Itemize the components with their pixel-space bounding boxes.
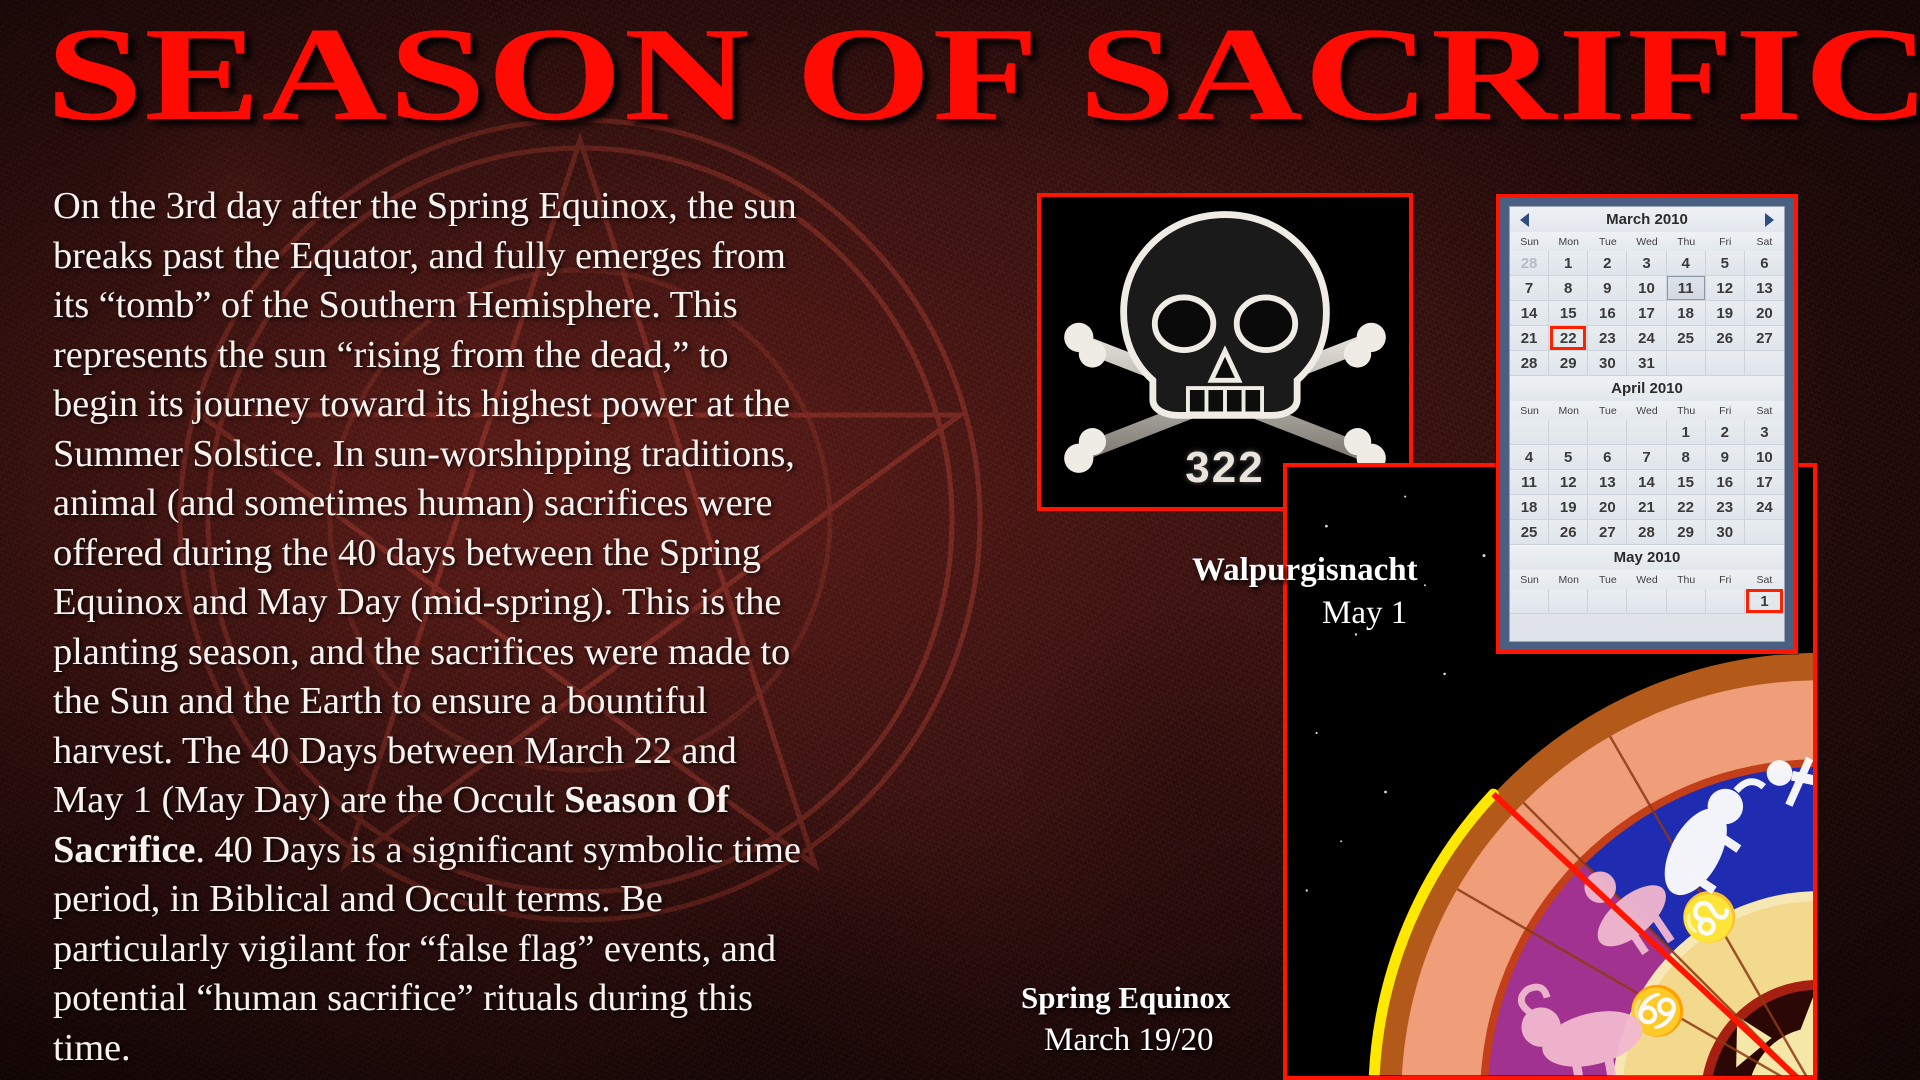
calendar-day-cell[interactable]: 3 xyxy=(1745,420,1784,445)
calendar-day-cell[interactable]: 8 xyxy=(1549,276,1588,301)
calendar-day-cell[interactable]: 23 xyxy=(1706,495,1745,520)
calendar-dayofweek-label: Fri xyxy=(1706,570,1745,589)
calendar-dayofweek-label: Fri xyxy=(1706,232,1745,251)
calendar-day-cell[interactable]: 18 xyxy=(1667,301,1706,326)
calendar-dayofweek-label: Mon xyxy=(1549,401,1588,420)
body-paragraph: On the 3rd day after the Spring Equinox,… xyxy=(53,182,813,1073)
calendar-dayofweek-row: SunMonTueWedThuFriSat xyxy=(1510,232,1784,251)
calendar-day-cell[interactable]: 24 xyxy=(1745,495,1784,520)
calendar-day-cell[interactable]: 11 xyxy=(1667,276,1706,301)
calendar-dayofweek-label: Wed xyxy=(1627,570,1666,589)
calendar-day-cell[interactable]: 16 xyxy=(1706,470,1745,495)
caption-walpurgisnacht-date: May 1 xyxy=(1322,595,1407,632)
calendar-day-cell[interactable]: 2 xyxy=(1706,420,1745,445)
calendar-day-cell[interactable]: 1 xyxy=(1549,251,1588,276)
calendar-day-cell[interactable]: 28 xyxy=(1510,251,1549,276)
calendar-dayofweek-label: Tue xyxy=(1588,570,1627,589)
calendar-day-cell[interactable]: 29 xyxy=(1549,351,1588,376)
calendar-day-cell xyxy=(1588,420,1627,445)
calendar-day-cell[interactable]: 20 xyxy=(1588,495,1627,520)
calendar-dayofweek-row: SunMonTueWedThuFriSat xyxy=(1510,570,1784,589)
calendar-day-cell xyxy=(1667,351,1706,376)
calendar-day-cell[interactable]: 8 xyxy=(1667,445,1706,470)
body-text-part1: On the 3rd day after the Spring Equinox,… xyxy=(53,185,797,821)
calendar-day-cell[interactable]: 30 xyxy=(1706,520,1745,545)
calendar-day-cell[interactable]: 9 xyxy=(1706,445,1745,470)
calendar-day-grid: 2812345678910111213141516171819202122232… xyxy=(1510,251,1784,376)
calendar-body: March 2010SunMonTueWedThuFriSat281234567… xyxy=(1509,206,1785,642)
calendar-dayofweek-label: Sun xyxy=(1510,401,1549,420)
calendar-day-cell[interactable]: 21 xyxy=(1627,495,1666,520)
calendar-dayofweek-label: Sun xyxy=(1510,232,1549,251)
calendar-prev-arrow-icon[interactable] xyxy=(1520,213,1529,227)
calendar-day-cell[interactable]: 12 xyxy=(1706,276,1745,301)
calendar-day-cell xyxy=(1510,420,1549,445)
calendar-day-cell xyxy=(1549,589,1588,614)
calendar-day-cell[interactable]: 2 xyxy=(1588,251,1627,276)
calendar-day-cell[interactable]: 28 xyxy=(1627,520,1666,545)
calendar-day-cell xyxy=(1745,520,1784,545)
calendar-day-cell[interactable]: 19 xyxy=(1549,495,1588,520)
calendar-day-cell-highlighted[interactable]: 22 xyxy=(1549,326,1588,351)
calendar-dayofweek-label: Thu xyxy=(1667,401,1706,420)
calendar-dayofweek-label: Wed xyxy=(1627,401,1666,420)
calendar-day-cell[interactable]: 24 xyxy=(1627,326,1666,351)
calendar-day-cell[interactable]: 5 xyxy=(1706,251,1745,276)
calendar-dayofweek-label: Wed xyxy=(1627,232,1666,251)
calendar-day-cell[interactable]: 11 xyxy=(1510,470,1549,495)
calendar-day-cell xyxy=(1706,351,1745,376)
calendar-day-cell[interactable]: 23 xyxy=(1588,326,1627,351)
calendar-dayofweek-label: Fri xyxy=(1706,401,1745,420)
calendar-day-cell[interactable]: 14 xyxy=(1627,470,1666,495)
calendar-day-grid: 1 xyxy=(1510,589,1784,614)
caption-spring-equinox-title: Spring Equinox xyxy=(1021,980,1230,1016)
calendar-day-cell xyxy=(1667,589,1706,614)
calendar-day-cell-highlighted[interactable]: 1 xyxy=(1745,589,1784,614)
calendar-day-grid: 1234567891011121314151617181920212223242… xyxy=(1510,420,1784,545)
calendar-day-cell[interactable]: 13 xyxy=(1745,276,1784,301)
calendar-day-cell[interactable]: 26 xyxy=(1706,326,1745,351)
calendar-month-label: April 2010 xyxy=(1611,380,1683,397)
calendar-day-cell[interactable]: 15 xyxy=(1549,301,1588,326)
calendar-dayofweek-label: Mon xyxy=(1549,570,1588,589)
calendar-day-cell[interactable]: 9 xyxy=(1588,276,1627,301)
calendar-day-cell[interactable]: 17 xyxy=(1627,301,1666,326)
calendar-dayofweek-row: SunMonTueWedThuFriSat xyxy=(1510,401,1784,420)
calendar-day-cell[interactable]: 4 xyxy=(1510,445,1549,470)
calendar-day-cell[interactable]: 28 xyxy=(1510,351,1549,376)
calendar-day-cell[interactable]: 22 xyxy=(1667,495,1706,520)
calendar-day-cell[interactable]: 26 xyxy=(1549,520,1588,545)
calendar-dayofweek-label: Tue xyxy=(1588,401,1627,420)
calendar-dayofweek-label: Mon xyxy=(1549,232,1588,251)
calendar-day-cell[interactable]: 30 xyxy=(1588,351,1627,376)
calendar-day-cell[interactable]: 27 xyxy=(1588,520,1627,545)
calendar-month-label: May 2010 xyxy=(1614,549,1681,566)
calendar-day-cell[interactable]: 31 xyxy=(1627,351,1666,376)
calendar-month-header: April 2010 xyxy=(1510,376,1784,401)
calendar-day-cell[interactable]: 18 xyxy=(1510,495,1549,520)
calendar-day-cell xyxy=(1627,420,1666,445)
calendar-month-header: March 2010 xyxy=(1510,207,1784,232)
caption-walpurgisnacht-title: Walpurgisnacht xyxy=(1192,552,1418,589)
calendar-day-cell[interactable]: 1 xyxy=(1667,420,1706,445)
calendar-day-cell xyxy=(1588,589,1627,614)
calendar-day-cell[interactable]: 14 xyxy=(1510,301,1549,326)
calendar-day-cell xyxy=(1627,589,1666,614)
calendar-day-cell[interactable]: 6 xyxy=(1588,445,1627,470)
calendar-day-cell[interactable]: 6 xyxy=(1745,251,1784,276)
calendar-day-cell[interactable]: 25 xyxy=(1510,520,1549,545)
calendar-day-cell xyxy=(1549,420,1588,445)
calendar-dayofweek-label: Thu xyxy=(1667,232,1706,251)
calendar-day-cell[interactable]: 16 xyxy=(1588,301,1627,326)
calendar-dayofweek-label: Sat xyxy=(1745,232,1784,251)
calendar-day-cell[interactable]: 10 xyxy=(1627,276,1666,301)
page-title: SEASON OF SACRIFICE xyxy=(46,6,1920,143)
calendar-widget[interactable]: March 2010SunMonTueWedThuFriSat281234567… xyxy=(1496,194,1798,654)
calendar-month-header: May 2010 xyxy=(1510,545,1784,570)
poster-canvas: SEASON OF SACRIFICE On the 3rd day after… xyxy=(0,0,1920,1080)
calendar-dayofweek-label: Sun xyxy=(1510,570,1549,589)
calendar-day-cell[interactable]: 12 xyxy=(1549,470,1588,495)
calendar-day-cell[interactable]: 7 xyxy=(1627,445,1666,470)
calendar-day-cell[interactable]: 15 xyxy=(1667,470,1706,495)
calendar-dayofweek-label: Sat xyxy=(1745,570,1784,589)
calendar-day-cell[interactable]: 27 xyxy=(1745,326,1784,351)
caption-spring-equinox-date: March 19/20 xyxy=(1044,1022,1214,1059)
calendar-dayofweek-label: Thu xyxy=(1667,570,1706,589)
calendar-dayofweek-label: Tue xyxy=(1588,232,1627,251)
calendar-day-cell xyxy=(1706,589,1745,614)
calendar-day-cell[interactable]: 17 xyxy=(1745,470,1784,495)
calendar-day-cell xyxy=(1510,589,1549,614)
calendar-day-cell[interactable]: 5 xyxy=(1549,445,1588,470)
calendar-day-cell[interactable]: 7 xyxy=(1510,276,1549,301)
calendar-dayofweek-label: Sat xyxy=(1745,401,1784,420)
calendar-day-cell[interactable]: 21 xyxy=(1510,326,1549,351)
calendar-day-cell[interactable]: 19 xyxy=(1706,301,1745,326)
calendar-day-cell[interactable]: 10 xyxy=(1745,445,1784,470)
calendar-month-label: March 2010 xyxy=(1606,211,1688,228)
calendar-day-cell[interactable]: 29 xyxy=(1667,520,1706,545)
calendar-day-cell[interactable]: 25 xyxy=(1667,326,1706,351)
calendar-day-cell[interactable]: 3 xyxy=(1627,251,1666,276)
calendar-day-cell[interactable]: 13 xyxy=(1588,470,1627,495)
calendar-day-cell xyxy=(1745,351,1784,376)
calendar-day-cell[interactable]: 4 xyxy=(1667,251,1706,276)
calendar-next-arrow-icon[interactable] xyxy=(1765,213,1774,227)
calendar-day-cell[interactable]: 20 xyxy=(1745,301,1784,326)
